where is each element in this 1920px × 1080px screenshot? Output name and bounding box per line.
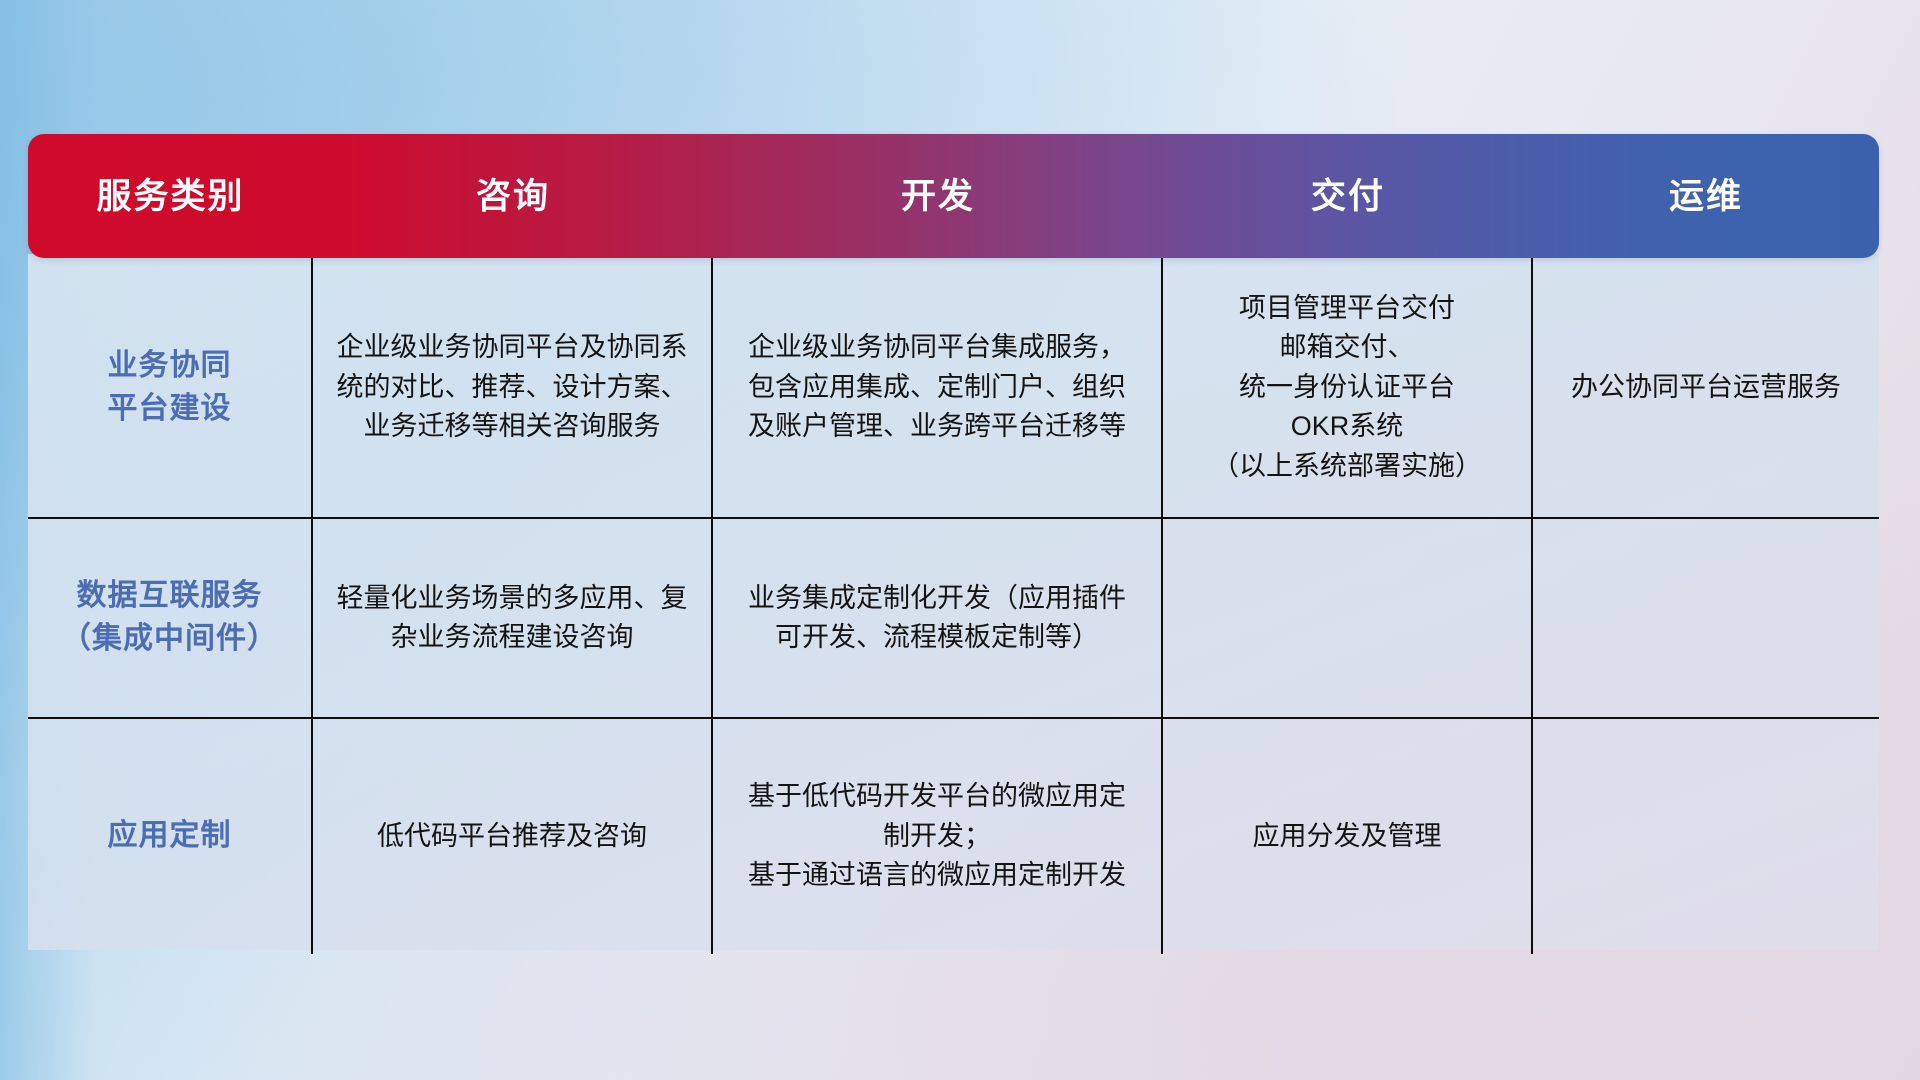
cell-text: 业务集成定制化开发（应用插件可开发、流程模板定制等） <box>748 579 1126 658</box>
cell-text: 办公协同平台运营服务 <box>1571 368 1841 407</box>
cell-text: 基于低代码开发平台的微应用定制开发；基于通过语言的微应用定制开发 <box>748 777 1126 895</box>
cell-delivery: 项目管理平台交付邮箱交付、统一身份认证平台OKR系统（以上系统部署实施） <box>1163 258 1533 517</box>
row-label-cell: 业务协同平台建设 <box>28 258 313 517</box>
table-row: 数据互联服务（集成中间件） 轻量化业务场景的多应用、复杂业务流程建设咨询 业务集… <box>28 517 1879 717</box>
row-label-text: 数据互联服务（集成中间件） <box>61 575 278 660</box>
cell-operations: 办公协同平台运营服务 <box>1533 258 1879 517</box>
cell-text: 应用分发及管理 <box>1253 817 1442 856</box>
row-label-cell: 应用定制 <box>28 719 313 954</box>
table-header-row: 服务类别 咨询 开发 交付 运维 <box>28 134 1879 258</box>
cell-operations <box>1533 519 1879 717</box>
column-header-consulting: 咨询 <box>313 179 713 214</box>
column-header-delivery: 交付 <box>1163 179 1533 214</box>
cell-consulting: 轻量化业务场景的多应用、复杂业务流程建设咨询 <box>313 519 713 717</box>
cell-text: 项目管理平台交付邮箱交付、统一身份认证平台OKR系统（以上系统部署实施） <box>1212 289 1482 486</box>
cell-delivery: 应用分发及管理 <box>1163 719 1533 954</box>
table-row: 业务协同平台建设 企业级业务协同平台及协同系统的对比、推荐、设计方案、业务迁移等… <box>28 258 1879 517</box>
row-label-text: 业务协同平台建设 <box>108 345 232 430</box>
column-header-category: 服务类别 <box>28 179 313 214</box>
table-body: 业务协同平台建设 企业级业务协同平台及协同系统的对比、推荐、设计方案、业务迁移等… <box>28 254 1879 950</box>
cell-text: 低代码平台推荐及咨询 <box>377 817 647 856</box>
cell-operations <box>1533 719 1879 954</box>
cell-text: 企业级业务协同平台集成服务，包含应用集成、定制门户、组织及账户管理、业务跨平台迁… <box>748 328 1126 446</box>
row-label-text: 应用定制 <box>108 815 232 858</box>
cell-consulting: 低代码平台推荐及咨询 <box>313 719 713 954</box>
cell-consulting: 企业级业务协同平台及协同系统的对比、推荐、设计方案、业务迁移等相关咨询服务 <box>313 258 713 517</box>
column-header-development: 开发 <box>713 179 1163 214</box>
cell-development: 企业级业务协同平台集成服务，包含应用集成、定制门户、组织及账户管理、业务跨平台迁… <box>713 258 1163 517</box>
column-header-operations: 运维 <box>1533 179 1879 214</box>
table-row: 应用定制 低代码平台推荐及咨询 基于低代码开发平台的微应用定制开发；基于通过语言… <box>28 717 1879 954</box>
cell-text: 轻量化业务场景的多应用、复杂业务流程建设咨询 <box>337 579 688 658</box>
cell-delivery <box>1163 519 1533 717</box>
row-label-cell: 数据互联服务（集成中间件） <box>28 519 313 717</box>
cell-text: 企业级业务协同平台及协同系统的对比、推荐、设计方案、业务迁移等相关咨询服务 <box>337 328 688 446</box>
cell-development: 业务集成定制化开发（应用插件可开发、流程模板定制等） <box>713 519 1163 717</box>
service-matrix-table: 服务类别 咨询 开发 交付 运维 业务协同平台建设 企业级业务协同平台及协同系统… <box>28 134 1879 954</box>
cell-development: 基于低代码开发平台的微应用定制开发；基于通过语言的微应用定制开发 <box>713 719 1163 954</box>
